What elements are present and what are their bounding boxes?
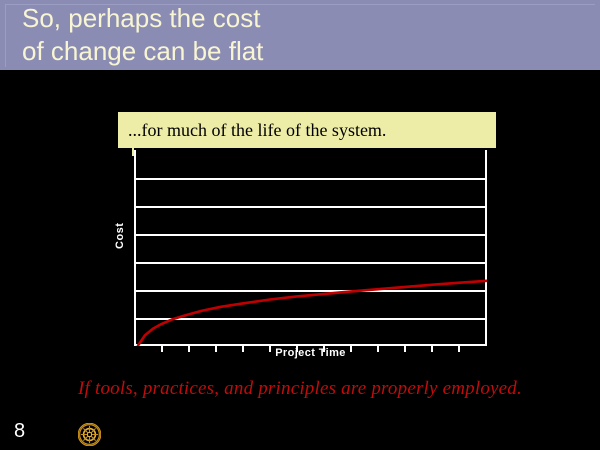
slide-caption: If tools, practices, and principles are … [0,378,600,400]
slide-canvas: So, perhaps the cost of change can be fl… [0,0,600,450]
gold-emblem-logo-icon [78,423,101,446]
callout-text: ...for much of the life of the system. [128,112,490,148]
chart-plot-area [134,150,487,346]
chart-series-line [134,150,487,346]
chart-y-axis-label: Cost [110,206,130,266]
slide-title: So, perhaps the cost of change can be fl… [22,2,582,68]
chart-x-axis-label: Project Time [134,347,487,359]
callout-box: ...for much of the life of the system. [118,112,496,148]
page-number: 8 [14,420,25,443]
slide-title-bar: So, perhaps the cost of change can be fl… [0,0,600,70]
